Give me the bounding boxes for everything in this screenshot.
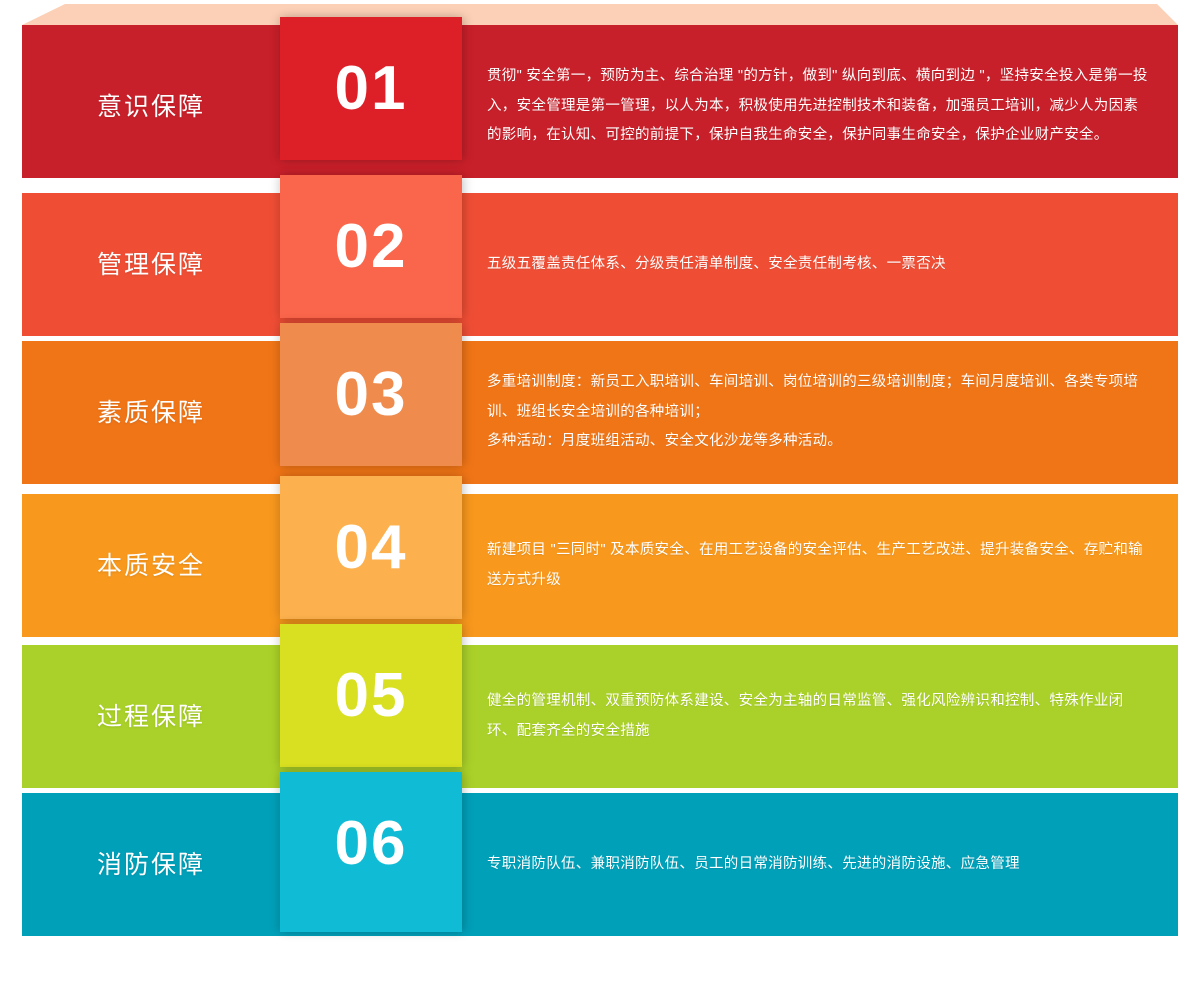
pyramid-row-1[interactable]: 意识保障 贯彻" 安全第一，预防为主、综合治理 "的方针，做到" 纵向到底、横向…	[22, 35, 1178, 178]
row-2-label: 管理保障	[97, 250, 205, 280]
number-cell-2[interactable]: 02	[280, 175, 462, 318]
row-6-description-cell: 专职消防队伍、兼职消防队伍、员工的日常消防训练、先进的消防设施、应急管理	[462, 793, 1178, 936]
number-cell-4[interactable]: 04	[280, 476, 462, 619]
number-3: 03	[335, 364, 408, 426]
row-1-description-cell: 贯彻" 安全第一，预防为主、综合治理 "的方针，做到" 纵向到底、横向到边 "，…	[462, 35, 1178, 178]
pyramid-number-column: 01 02 03 04 05 06	[280, 17, 462, 932]
row-6-label-cell: 消防保障	[22, 793, 280, 936]
number-cell-1[interactable]: 01	[280, 17, 462, 160]
row-4-description-cell: 新建项目 "三同时" 及本质安全、在用工艺设备的安全评估、生产工艺改进、提升装备…	[462, 494, 1178, 637]
row-3-description-cell: 多重培训制度：新员工入职培训、车间培训、岗位培训的三级培训制度；车间月度培训、各…	[462, 341, 1178, 484]
number-6: 06	[335, 813, 408, 875]
row-1-description: 贯彻" 安全第一，预防为主、综合治理 "的方针，做到" 纵向到底、横向到边 "，…	[487, 62, 1148, 151]
diagram-canvas: 意识保障 贯彻" 安全第一，预防为主、综合治理 "的方针，做到" 纵向到底、横向…	[0, 0, 1200, 993]
row-3-label-cell: 素质保障	[22, 341, 280, 484]
row-6-label: 消防保障	[97, 850, 205, 880]
number-cell-3[interactable]: 03	[280, 323, 462, 466]
row-6-description: 专职消防队伍、兼职消防队伍、员工的日常消防训练、先进的消防设施、应急管理	[487, 850, 1020, 880]
row-5-label: 过程保障	[97, 702, 205, 732]
row-5-label-cell: 过程保障	[22, 645, 280, 788]
row-4-description: 新建项目 "三同时" 及本质安全、在用工艺设备的安全评估、生产工艺改进、提升装备…	[487, 536, 1148, 595]
row-2-description: 五级五覆盖责任体系、分级责任清单制度、安全责任制考核、一票否决	[487, 250, 946, 280]
number-2: 02	[335, 216, 408, 278]
row-1-label: 意识保障	[97, 92, 205, 122]
row-4-label: 本质安全	[97, 551, 205, 581]
pyramid-body: 意识保障 贯彻" 安全第一，预防为主、综合治理 "的方针，做到" 纵向到底、横向…	[22, 35, 1178, 958]
pyramid-row-4[interactable]: 本质安全 新建项目 "三同时" 及本质安全、在用工艺设备的安全评估、生产工艺改进…	[22, 494, 1178, 637]
row-2-label-cell: 管理保障	[22, 193, 280, 336]
number-1: 01	[335, 58, 408, 120]
number-cell-6[interactable]: 06	[280, 772, 462, 932]
row-2-description-cell: 五级五覆盖责任体系、分级责任清单制度、安全责任制考核、一票否决	[462, 193, 1178, 336]
pyramid-row-3[interactable]: 素质保障 多重培训制度：新员工入职培训、车间培训、岗位培训的三级培训制度；车间月…	[22, 341, 1178, 484]
pyramid-row-2[interactable]: 管理保障 五级五覆盖责任体系、分级责任清单制度、安全责任制考核、一票否决	[22, 193, 1178, 336]
row-3-description: 多重培训制度：新员工入职培训、车间培训、岗位培训的三级培训制度；车间月度培训、各…	[487, 368, 1148, 457]
number-4: 04	[335, 517, 408, 579]
row-1-label-cell: 意识保障	[22, 35, 280, 178]
number-cell-5[interactable]: 05	[280, 624, 462, 767]
pyramid-row-6[interactable]: 消防保障 专职消防队伍、兼职消防队伍、员工的日常消防训练、先进的消防设施、应急管…	[22, 793, 1178, 936]
pyramid-top-slab-icon	[0, 0, 1200, 40]
row-3-label: 素质保障	[97, 398, 205, 428]
row-5-description: 健全的管理机制、双重预防体系建设、安全为主轴的日常监管、强化风险辨识和控制、特殊…	[487, 687, 1148, 746]
pyramid-row-5[interactable]: 过程保障 健全的管理机制、双重预防体系建设、安全为主轴的日常监管、强化风险辨识和…	[22, 645, 1178, 788]
number-5: 05	[335, 665, 408, 727]
row-4-label-cell: 本质安全	[22, 494, 280, 637]
row-5-description-cell: 健全的管理机制、双重预防体系建设、安全为主轴的日常监管、强化风险辨识和控制、特殊…	[462, 645, 1178, 788]
